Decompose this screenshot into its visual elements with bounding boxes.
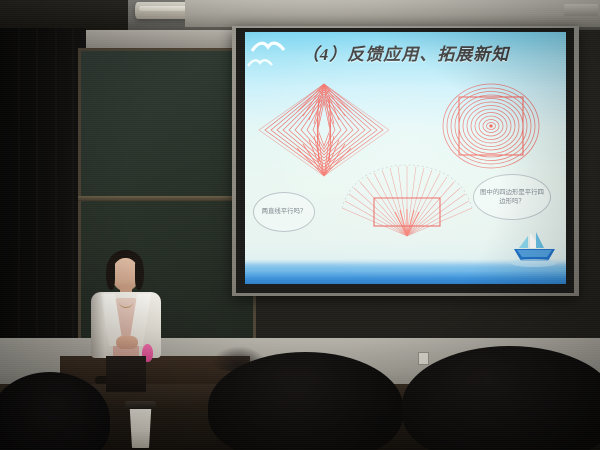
chalkboard-divider bbox=[78, 196, 256, 201]
presenter-necklace bbox=[119, 296, 133, 308]
callout-bubble-left: 两直线平行吗？ bbox=[253, 192, 315, 232]
classroom-photo: （4）反馈应用、拓展新知 bbox=[0, 0, 600, 450]
projector-screen-casing bbox=[185, 0, 600, 29]
wall-outlet-icon bbox=[418, 352, 429, 365]
figure-fan-sunburst bbox=[340, 164, 475, 242]
presenter-dark-skirt bbox=[106, 356, 146, 392]
paper-coffee-cup bbox=[128, 404, 153, 448]
slide-title: （4）反馈应用、拓展新知 bbox=[245, 40, 566, 65]
presenter-hair-left bbox=[106, 260, 115, 290]
callout-text-left: 两直线平行吗？ bbox=[262, 207, 307, 216]
sailboat-icon bbox=[508, 230, 560, 270]
presenter-hands bbox=[116, 336, 138, 349]
figure-concentric-circles bbox=[440, 80, 542, 172]
presenter-hair-right bbox=[135, 260, 144, 290]
casing-end-cap bbox=[564, 4, 598, 16]
coffee-cup-lid bbox=[125, 401, 156, 409]
presentation-slide: （4）反馈应用、拓展新知 bbox=[245, 32, 566, 284]
dark-curtain bbox=[0, 28, 86, 363]
female-presenter bbox=[78, 250, 174, 390]
callout-text-right: 图中的四边形是平行四边形吗？ bbox=[480, 188, 544, 207]
wall-above-blackboard bbox=[78, 30, 258, 50]
presenter-jacket-shadow bbox=[91, 292, 105, 358]
callout-bubble-right: 图中的四边形是平行四边形吗？ bbox=[473, 174, 551, 220]
